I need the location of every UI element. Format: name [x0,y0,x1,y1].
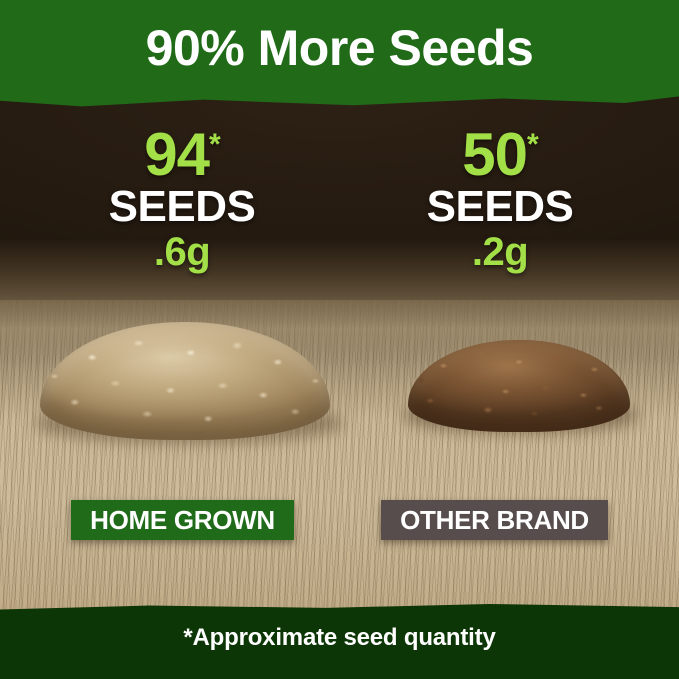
other-brand-brand-label: OTHER BRAND [381,500,608,540]
home-grown-seed-count: 94* [32,126,332,184]
footer-banner: *Approximate seed quantity [0,600,679,679]
seed-count-value: 50 [462,121,527,188]
page-title: 90% More Seeds [0,18,679,78]
other-brand-seed-weight: .2g [350,230,650,274]
disclaimer-text: *Approximate seed quantity [0,624,679,652]
asterisk-marker: * [209,128,220,161]
seed-comparison-infographic: 90% More Seeds 94* SEEDS .6g 50* SEEDS .… [0,0,679,679]
home-grown-brand-label: HOME GROWN [71,500,294,540]
home-grown-stats: 94* SEEDS .6g [32,126,332,274]
home-grown-seed-weight: .6g [32,230,332,274]
asterisk-marker: * [527,128,538,161]
other-brand-seed-count: 50* [350,126,650,184]
seed-count-value: 94 [144,121,209,188]
header-banner: 90% More Seeds [0,0,679,112]
home-grown-seed-unit: SEEDS [32,184,332,230]
other-brand-seed-unit: SEEDS [350,184,650,230]
other-brand-stats: 50* SEEDS .2g [350,126,650,274]
